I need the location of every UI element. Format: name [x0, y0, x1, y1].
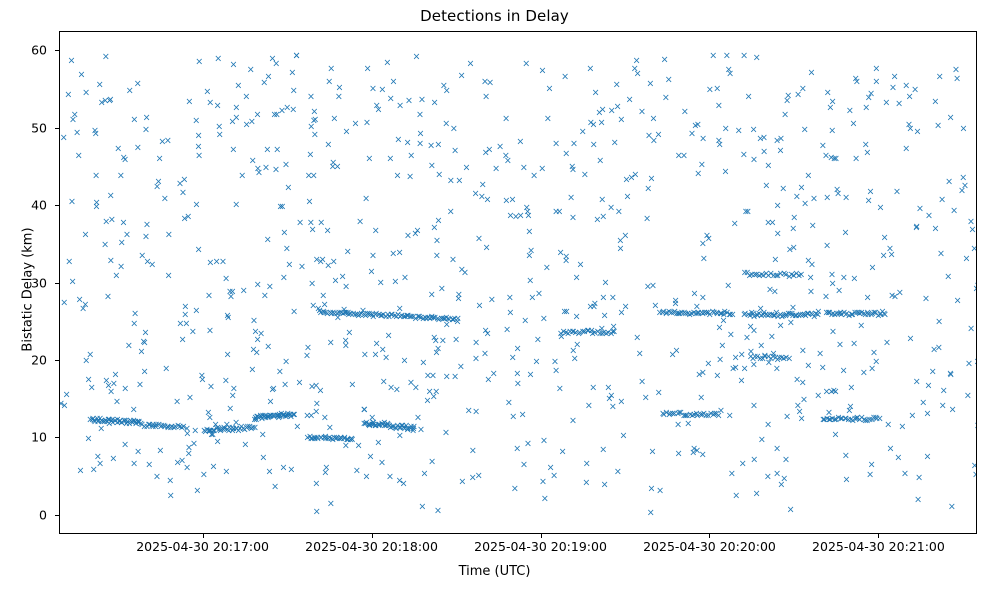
scatter-point: ×	[840, 366, 848, 376]
scatter-point: ×	[344, 247, 352, 257]
scatter-point: ×	[790, 213, 798, 223]
scatter-point: ×	[229, 145, 237, 155]
scatter-point: ×	[567, 193, 575, 203]
y-axis-tick-mark	[55, 50, 59, 51]
scatter-point: ×	[109, 454, 117, 464]
scatter-point: ×	[547, 463, 555, 473]
scatter-point: ×	[727, 330, 735, 340]
scatter-point: ×	[787, 505, 795, 515]
scatter-point: ×	[293, 423, 301, 433]
x-axis-tick-label: 2025-04-30 20:20:00	[643, 539, 776, 554]
scatter-point: ×	[396, 476, 404, 486]
scatter-point: ×	[186, 393, 194, 403]
scatter-point: ×	[739, 460, 747, 470]
y-axis-tick-mark	[55, 437, 59, 438]
scatter-point: ×	[526, 370, 534, 380]
scatter-point: ×	[179, 335, 187, 345]
page-title: Detections in Delay	[0, 7, 989, 25]
scatter-point: ×	[254, 335, 262, 345]
scatter-point: ×	[573, 273, 581, 283]
scatter-point: ×	[253, 348, 261, 358]
scatter-point: ×	[723, 51, 731, 61]
scatter-point: ×	[794, 401, 802, 411]
scatter-point: ×	[313, 255, 321, 265]
scatter-point: ×	[298, 262, 306, 272]
scatter-point: ×	[365, 154, 373, 164]
scatter-point: ×	[526, 276, 534, 286]
scatter-point: ×	[428, 457, 436, 467]
scatter-point: ×	[954, 296, 962, 306]
scatter-point: ×	[616, 237, 624, 247]
scatter-point: ×	[121, 155, 129, 165]
scatter-point: ×	[638, 107, 646, 117]
scatter-point: ×	[455, 177, 463, 187]
scatter-point: ×	[655, 388, 663, 398]
scatter-point: ×	[675, 151, 683, 161]
scatter-point: ×	[472, 407, 480, 417]
scatter-point: ×	[353, 466, 361, 476]
scatter-point: ×	[283, 245, 291, 255]
scatter-point: ×	[638, 377, 646, 387]
scatter-point: ×	[655, 130, 663, 140]
scatter-point: ×	[393, 386, 401, 396]
scatter-point: ×	[745, 92, 753, 102]
scatter-point: ×	[442, 429, 450, 439]
scatter-point: ×	[965, 360, 973, 370]
scatter-point: ×	[204, 408, 212, 418]
scatter-point: ×	[141, 367, 149, 377]
scatter-point: ×	[617, 115, 625, 125]
scatter-point: ×	[361, 350, 369, 360]
scatter-point: ×	[546, 85, 554, 95]
scatter-point: ×	[571, 354, 579, 364]
scatter-point: ×	[729, 310, 737, 320]
scatter-point: ×	[141, 328, 149, 338]
scatter-point: ×	[214, 101, 222, 111]
scatter-point: ×	[472, 339, 480, 349]
scatter-point: ×	[694, 169, 702, 179]
scatter-point: ×	[865, 196, 873, 206]
scatter-point: ×	[82, 88, 90, 98]
scatter-point: ×	[974, 358, 977, 368]
scatter-point: ×	[750, 326, 758, 336]
scatter-point: ×	[750, 456, 758, 466]
scatter-point: ×	[974, 421, 977, 431]
scatter-point: ×	[241, 440, 249, 450]
scatter-point: ×	[434, 345, 442, 355]
scatter-point: ×	[404, 138, 412, 148]
scatter-point: ×	[232, 113, 240, 123]
scatter-point: ×	[622, 176, 630, 186]
scatter-point: ×	[419, 358, 427, 368]
scatter-point: ×	[801, 126, 809, 136]
scatter-point: ×	[455, 294, 463, 304]
scatter-point: ×	[412, 52, 420, 62]
scatter-point: ×	[819, 363, 827, 373]
scatter-point: ×	[869, 263, 877, 273]
scatter-point: ×	[758, 435, 766, 445]
scatter-point: ×	[288, 68, 296, 78]
scatter-point: ×	[916, 204, 924, 214]
scatter-point: ×	[200, 470, 208, 480]
scatter-point: ×	[360, 405, 368, 415]
scatter-point: ×	[624, 192, 632, 202]
scatter-point: ×	[520, 163, 528, 173]
scatter-point: ×	[240, 286, 248, 296]
scatter-point: ×	[273, 146, 281, 156]
scatter-point: ×	[447, 207, 455, 217]
scatter-point: ×	[850, 274, 858, 284]
scatter-point: ×	[601, 480, 609, 490]
scatter-point: ×	[112, 271, 120, 281]
scatter-point: ×	[443, 86, 451, 96]
scatter-point: ×	[527, 247, 535, 257]
scatter-point: ×	[713, 372, 721, 382]
scatter-point: ×	[611, 138, 619, 148]
scatter-point: ×	[846, 106, 854, 116]
scatter-point: ×	[924, 452, 932, 462]
scatter-point: ×	[372, 226, 380, 236]
scatter-point: ×	[722, 167, 730, 177]
scatter-point: ×	[610, 327, 618, 337]
scatter-point: ×	[841, 228, 849, 238]
scatter-point: ×	[469, 447, 477, 457]
scatter-point: ×	[947, 113, 955, 123]
scatter-point: ×	[823, 193, 831, 203]
scatter-point: ×	[224, 312, 232, 322]
scatter-point: ×	[804, 257, 812, 267]
scatter-point: ×	[649, 281, 657, 291]
scatter-point: ×	[789, 224, 797, 234]
scatter-point: ×	[823, 242, 831, 252]
scatter-point: ×	[750, 401, 758, 411]
scatter-point: ×	[715, 137, 723, 147]
scatter-point: ×	[329, 158, 337, 168]
scatter-point: ×	[207, 382, 215, 392]
scatter-point: ×	[741, 364, 749, 374]
scatter-point: ×	[270, 384, 278, 394]
scatter-point: ×	[852, 154, 860, 164]
scatter-point: ×	[521, 317, 529, 327]
scatter-point: ×	[750, 125, 758, 135]
scatter-point: ×	[799, 84, 807, 94]
scatter-point: ×	[289, 106, 297, 116]
scatter-point: ×	[809, 221, 817, 231]
scatter-point: ×	[857, 322, 865, 332]
scatter-point: ×	[295, 378, 303, 388]
scatter-point: ×	[972, 470, 977, 480]
scatter-point: ×	[644, 184, 652, 194]
scatter-point: ×	[312, 479, 320, 489]
scatter-point: ×	[872, 65, 880, 75]
scatter-point: ×	[768, 332, 776, 342]
scatter-point: ×	[313, 507, 321, 517]
scatter-point: ×	[181, 310, 189, 320]
scatter-point: ×	[935, 343, 943, 353]
scatter-point: ×	[514, 380, 522, 390]
scatter-point: ×	[506, 308, 514, 318]
scatter-point: ×	[509, 353, 517, 363]
scatter-point: ×	[158, 137, 166, 147]
scatter-point: ×	[120, 218, 128, 228]
scatter-point: ×	[738, 350, 746, 360]
scatter-point: ×	[369, 251, 377, 261]
scatter-point: ×	[807, 273, 815, 283]
scatter-point: ×	[822, 151, 830, 161]
scatter-point: ×	[192, 306, 200, 316]
scatter-point: ×	[602, 278, 610, 288]
scatter-point: ×	[569, 213, 577, 223]
scatter-point: ×	[228, 287, 236, 297]
scatter-point: ×	[862, 103, 870, 113]
scatter-point: ×	[902, 81, 910, 91]
scatter-point: ×	[401, 357, 409, 367]
scatter-point: ×	[348, 435, 356, 445]
scatter-point: ×	[906, 92, 914, 102]
x-axis-label: Time (UTC)	[0, 564, 989, 579]
scatter-point: ×	[544, 114, 552, 124]
scatter-point: ×	[842, 193, 850, 203]
scatter-point: ×	[327, 64, 335, 74]
scatter-point: ×	[406, 172, 414, 182]
scatter-point: ×	[222, 467, 230, 477]
scatter-point: ×	[508, 195, 516, 205]
scatter-point: ×	[919, 398, 927, 408]
scatter-point: ×	[960, 124, 968, 134]
scatter-point: ×	[541, 495, 549, 505]
scatter-point: ×	[614, 103, 622, 113]
scatter-point: ×	[296, 219, 304, 229]
scatter-point: ×	[224, 350, 232, 360]
scatter-point: ×	[940, 387, 948, 397]
scatter-point: ×	[434, 507, 442, 517]
scatter-point: ×	[947, 370, 955, 380]
scatter-point: ×	[681, 107, 689, 117]
scatter-point: ×	[614, 467, 622, 477]
scatter-point: ×	[613, 81, 621, 91]
scatter-point: ×	[96, 81, 104, 91]
scatter-point: ×	[280, 463, 288, 473]
scatter-point: ×	[238, 172, 246, 182]
scatter-point: ×	[379, 346, 387, 356]
scatter-point: ×	[76, 295, 84, 305]
scatter-point: ×	[206, 326, 214, 336]
scatter-point: ×	[661, 55, 669, 65]
scatter-point: ×	[726, 412, 734, 422]
scatter-point: ×	[534, 335, 542, 345]
scatter-point: ×	[156, 447, 164, 457]
scatter-point: ×	[490, 369, 498, 379]
scatter-point: ×	[195, 151, 203, 161]
x-axis-tick-mark	[878, 534, 879, 538]
scatter-point: ×	[735, 126, 743, 136]
scatter-point: ×	[675, 449, 683, 459]
scatter-point: ×	[925, 212, 933, 222]
scatter-point: ×	[229, 61, 237, 71]
x-axis-tick-label: 2025-04-30 20:21:00	[812, 539, 945, 554]
scatter-point: ×	[267, 398, 275, 408]
scatter-point: ×	[433, 251, 441, 261]
scatter-point: ×	[842, 475, 850, 485]
scatter-point: ×	[173, 397, 181, 407]
scatter-point: ×	[829, 97, 837, 107]
scatter-point: ×	[136, 380, 144, 390]
scatter-point: ×	[503, 325, 511, 335]
scatter-point: ×	[130, 459, 138, 469]
scatter-point: ×	[798, 183, 806, 193]
scatter-point: ×	[599, 212, 607, 222]
scatter-point: ×	[665, 75, 673, 85]
scatter-point: ×	[886, 445, 894, 455]
y-axis-tick-mark	[55, 283, 59, 284]
scatter-point: ×	[290, 86, 298, 96]
scatter-point: ×	[511, 484, 519, 494]
scatter-point: ×	[740, 52, 748, 62]
scatter-point: ×	[374, 438, 382, 448]
scatter-point: ×	[486, 78, 494, 88]
scatter-point: ×	[88, 383, 96, 393]
scatter-point: ×	[870, 348, 878, 358]
scatter-point: ×	[520, 460, 528, 470]
scatter-point: ×	[868, 460, 876, 470]
scatter-point: ×	[435, 216, 443, 226]
scatter-point: ×	[69, 277, 77, 287]
scatter-point: ×	[569, 166, 577, 176]
scatter-point: ×	[689, 448, 697, 458]
scatter-point: ×	[451, 146, 459, 156]
scatter-point: ×	[389, 250, 397, 260]
scatter-point: ×	[889, 83, 897, 93]
scatter-point: ×	[117, 172, 125, 182]
scatter-point: ×	[867, 89, 875, 99]
scatter-point: ×	[153, 473, 161, 483]
scatter-point: ×	[777, 321, 785, 331]
scatter-point: ×	[649, 447, 657, 457]
y-axis-tick-label: 10	[3, 430, 47, 445]
scatter-point: ×	[462, 163, 470, 173]
scatter-point: ×	[183, 464, 191, 474]
scatter-point: ×	[383, 59, 391, 69]
scatter-point: ×	[73, 129, 81, 139]
scatter-point: ×	[877, 203, 885, 213]
scatter-point: ×	[801, 199, 809, 209]
scatter-point: ×	[307, 219, 315, 229]
scatter-point: ×	[814, 310, 822, 320]
scatter-point: ×	[540, 436, 548, 446]
scatter-point: ×	[626, 96, 634, 106]
scatter-point: ×	[336, 83, 344, 93]
scatter-point: ×	[416, 139, 424, 149]
scatter-point: ×	[607, 203, 615, 213]
scatter-point: ×	[82, 231, 90, 241]
scatter-point: ×	[126, 86, 134, 96]
y-axis-tick-label: 40	[3, 198, 47, 213]
scatter-point: ×	[785, 354, 793, 364]
scatter-point: ×	[165, 231, 173, 241]
scatter-point: ×	[715, 102, 723, 112]
scatter-point: ×	[552, 140, 560, 150]
scatter-point: ×	[134, 143, 142, 153]
scatter-point: ×	[142, 232, 150, 242]
scatter-point: ×	[428, 290, 436, 300]
scatter-point: ×	[101, 240, 109, 250]
scatter-point: ×	[76, 466, 84, 476]
scatter-point: ×	[190, 439, 198, 449]
scatter-point: ×	[607, 391, 615, 401]
scatter-point: ×	[107, 95, 115, 105]
scatter-point: ×	[64, 90, 72, 100]
scatter-point: ×	[860, 368, 868, 378]
scatter-point: ×	[153, 182, 161, 192]
scatter-point: ×	[317, 218, 325, 228]
scatter-point: ×	[774, 229, 782, 239]
scatter-point: ×	[60, 298, 68, 308]
scatter-point: ×	[618, 308, 626, 318]
scatter-point: ×	[178, 423, 186, 433]
scatter-point: ×	[634, 69, 642, 79]
scatter-point: ×	[609, 293, 617, 303]
scatter-point: ×	[438, 285, 446, 295]
scatter-point: ×	[352, 120, 360, 130]
scatter-point: ×	[418, 95, 426, 105]
scatter-point: ×	[539, 478, 547, 488]
y-axis-tick-label: 0	[3, 507, 47, 522]
scatter-point: ×	[181, 214, 189, 224]
scatter-point: ×	[262, 163, 270, 173]
scatter-point: ×	[764, 421, 772, 431]
scatter-point: ×	[556, 384, 564, 394]
scatter-point: ×	[380, 377, 388, 387]
scatter-point: ×	[535, 289, 543, 299]
scatter-point: ×	[766, 285, 774, 295]
scatter-point: ×	[125, 341, 133, 351]
scatter-point: ×	[591, 300, 599, 310]
scatter-point: ×	[756, 134, 764, 144]
scatter-point: ×	[324, 140, 332, 150]
scatter-point: ×	[430, 393, 438, 403]
scatter-point: ×	[847, 403, 855, 413]
scatter-point: ×	[405, 97, 413, 107]
scatter-point: ×	[263, 145, 271, 155]
scatter-point: ×	[307, 92, 315, 102]
scatter-point: ×	[287, 466, 295, 476]
scatter-point: ×	[832, 154, 840, 164]
scatter-point: ×	[325, 77, 333, 87]
scatter-point: ×	[433, 236, 441, 246]
scatter-point: ×	[482, 148, 490, 158]
scatter-point: ×	[308, 280, 316, 290]
scatter-point: ×	[642, 394, 650, 404]
scatter-point: ×	[209, 463, 217, 473]
scatter-point: ×	[410, 422, 418, 432]
scatter-point: ×	[950, 206, 958, 216]
scatter-point: ×	[569, 416, 577, 426]
scatter-point: ×	[417, 129, 425, 139]
scatter-point: ×	[967, 217, 975, 227]
scatter-point: ×	[161, 194, 169, 204]
scatter-point: ×	[321, 413, 329, 423]
scatter-point: ×	[881, 311, 889, 321]
scatter-point: ×	[592, 89, 600, 99]
scatter-point: ×	[700, 254, 708, 264]
scatter-point: ×	[582, 478, 590, 488]
scatter-point: ×	[102, 53, 110, 63]
scatter-point: ×	[539, 67, 547, 77]
scatter-point: ×	[731, 219, 739, 229]
scatter-point: ×	[615, 207, 623, 217]
scatter-point: ×	[342, 282, 350, 292]
scatter-point: ×	[130, 405, 138, 415]
